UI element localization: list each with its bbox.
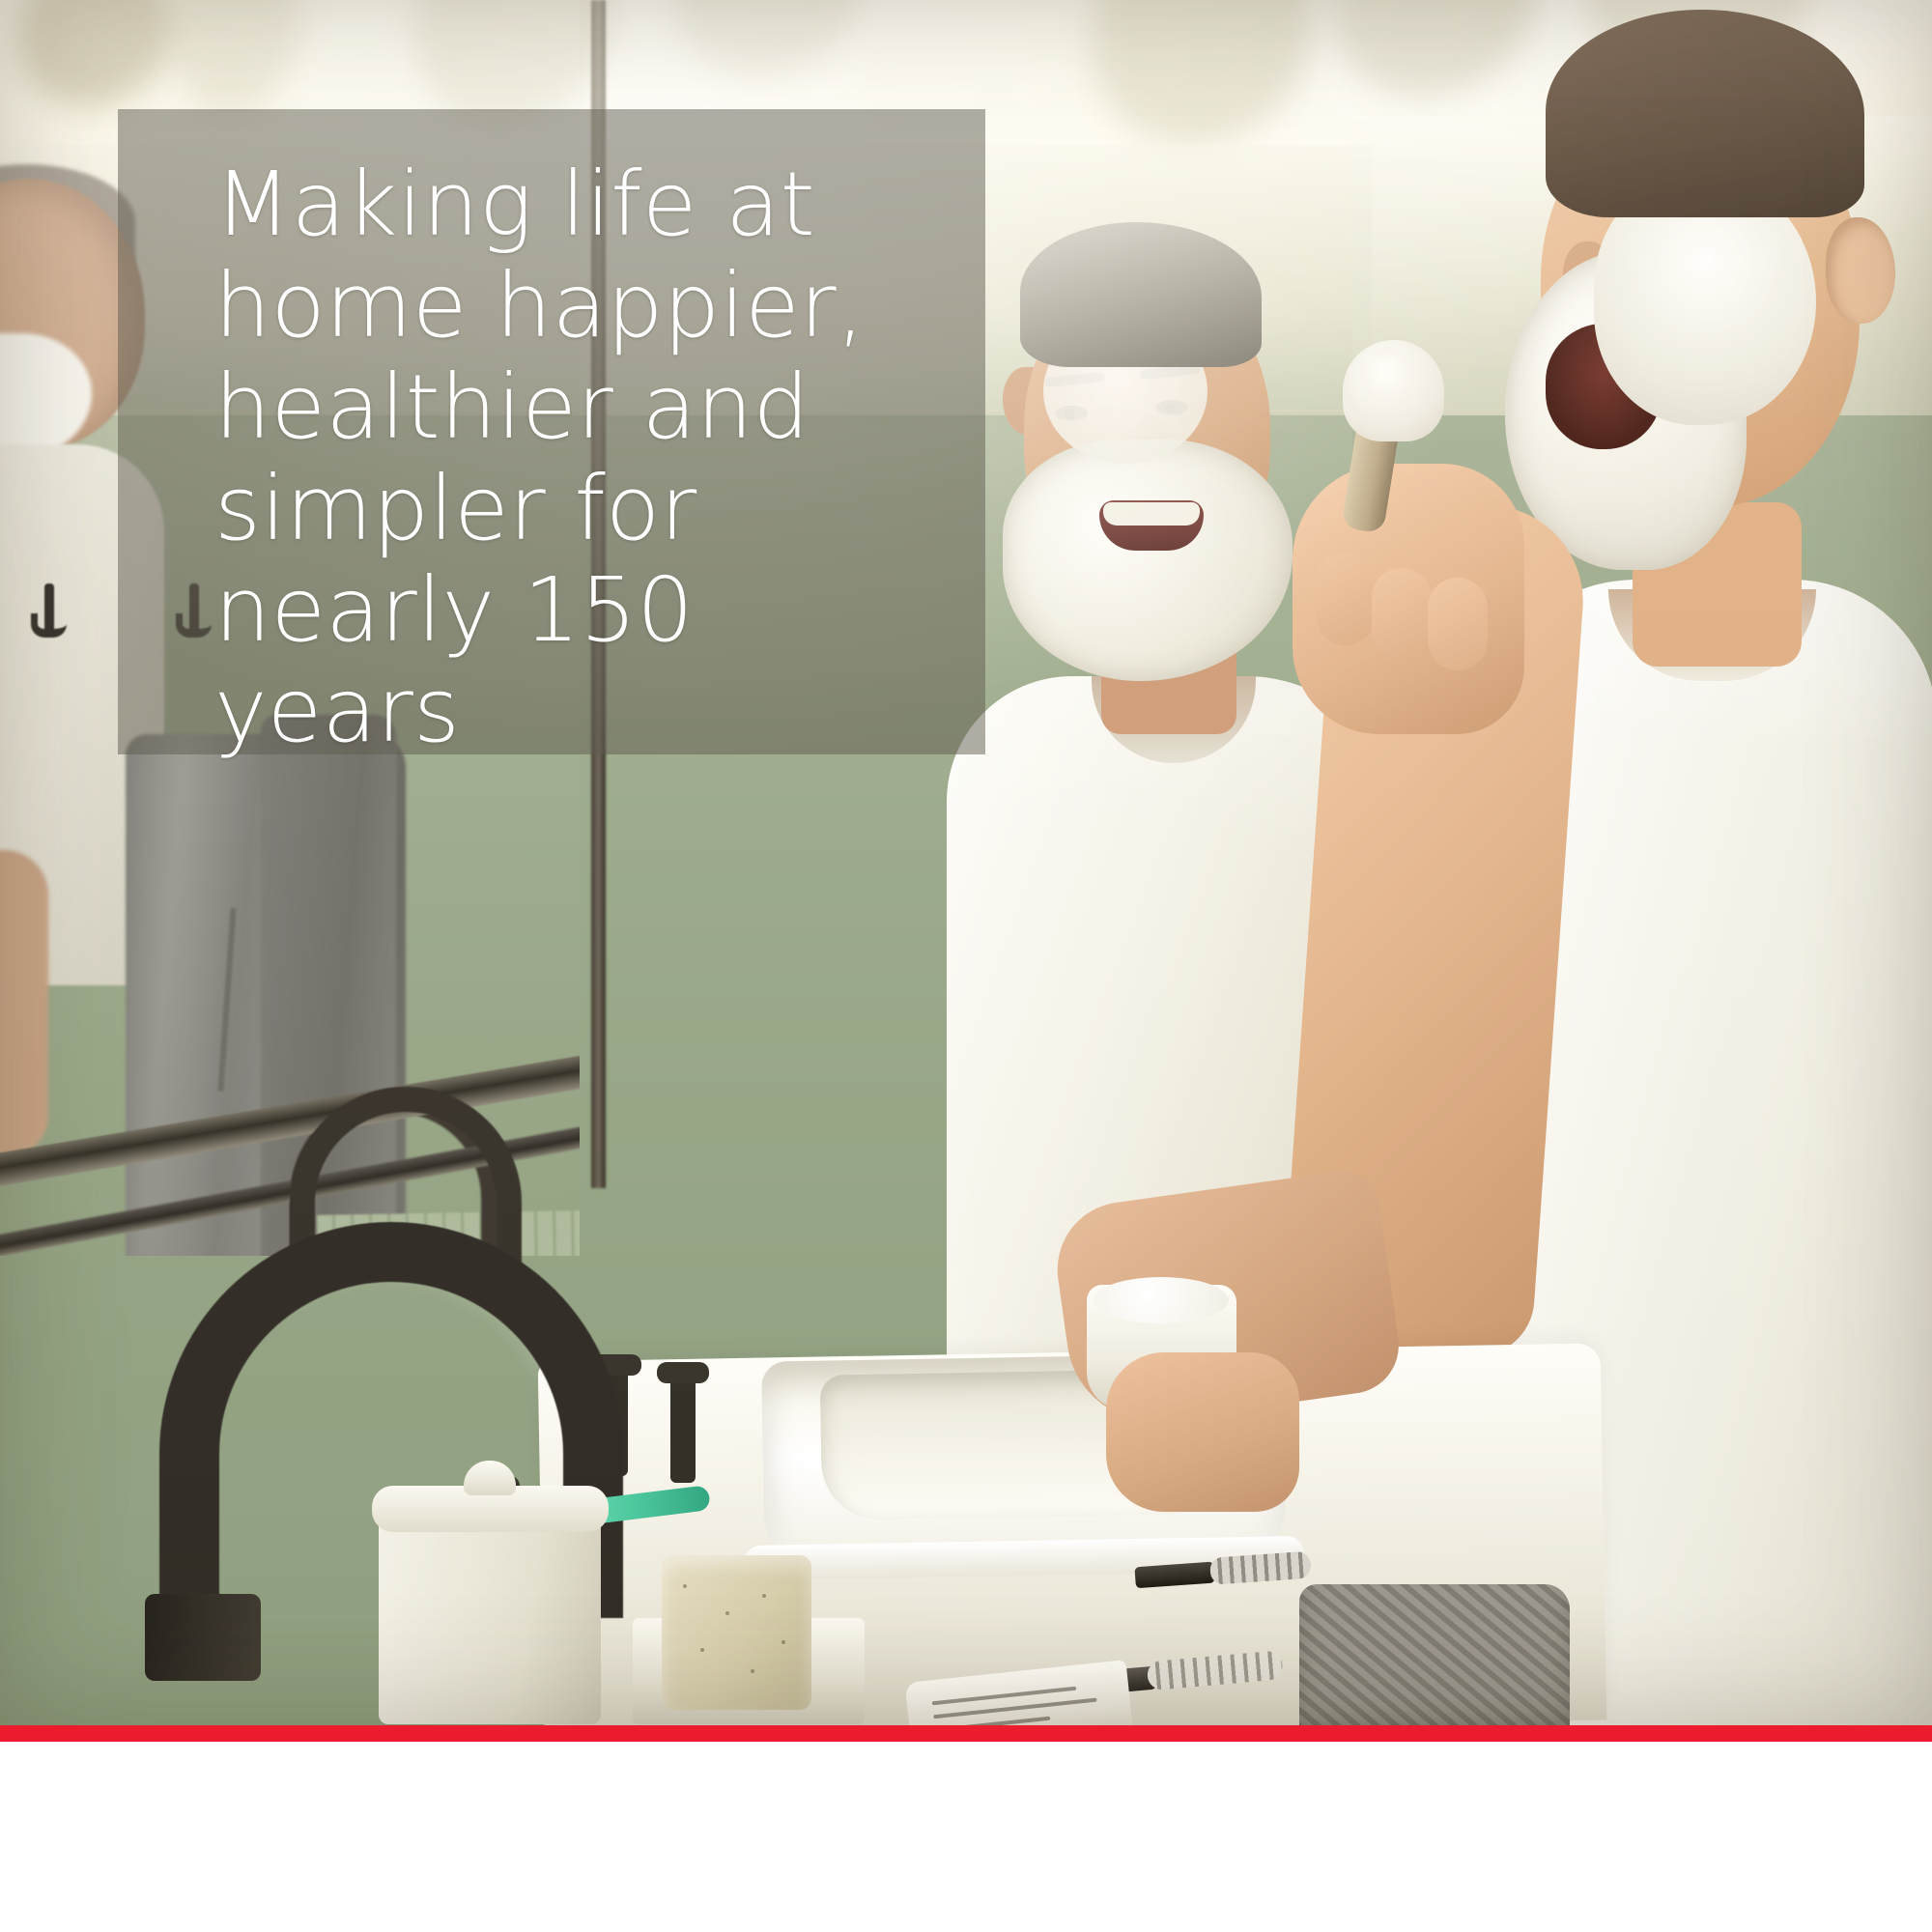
headline-line-3: healthier and bbox=[214, 357, 949, 459]
headline-line-1: Making life at bbox=[214, 155, 949, 256]
shaving-cup-foam bbox=[1094, 1277, 1229, 1323]
father-hair bbox=[1020, 222, 1262, 367]
razor-grip bbox=[1209, 1551, 1312, 1585]
son-ear bbox=[1826, 217, 1895, 324]
advertisement-creative: Making life at home happier, healthier a… bbox=[0, 0, 1932, 1932]
father-smiling-mouth bbox=[1099, 500, 1204, 551]
reflected-man-arm bbox=[0, 850, 48, 1159]
soap-fleck bbox=[762, 1594, 766, 1598]
headline-line-4: simpler for bbox=[214, 459, 949, 560]
headline-text: Making life at home happier, healthier a… bbox=[214, 155, 949, 762]
soap-fleck bbox=[725, 1611, 729, 1615]
soap-bar bbox=[662, 1555, 811, 1710]
hero-photograph: Making life at home happier, healthier a… bbox=[0, 0, 1932, 1725]
son-finger bbox=[1316, 553, 1376, 645]
folded-grey-towel bbox=[1299, 1584, 1570, 1725]
soap-fleck bbox=[781, 1640, 785, 1644]
wall-hook-icon bbox=[44, 583, 54, 634]
son-finger bbox=[1372, 568, 1432, 661]
razor-head bbox=[1134, 1562, 1214, 1589]
foreground-faucet-base bbox=[145, 1594, 261, 1681]
son-finger bbox=[1428, 578, 1488, 670]
brand-accent-bar bbox=[0, 1725, 1932, 1742]
tube-label-line bbox=[935, 1717, 1051, 1725]
son-hand bbox=[1293, 464, 1524, 734]
father-shaving-foam bbox=[1003, 440, 1293, 681]
logo-band: American Standard bbox=[0, 1742, 1932, 1932]
father-teeth bbox=[1103, 502, 1200, 526]
son-hair bbox=[1546, 10, 1864, 217]
father-hand bbox=[1106, 1352, 1299, 1512]
shaving-brush-bristles bbox=[1343, 340, 1444, 441]
ceramic-canister bbox=[379, 1512, 601, 1724]
soap-fleck bbox=[700, 1648, 704, 1652]
faucet-handle-post bbox=[670, 1377, 696, 1483]
soap-fleck bbox=[751, 1669, 754, 1673]
soap-fleck bbox=[683, 1584, 687, 1588]
headline-line-5: nearly 150 years bbox=[214, 560, 949, 763]
faucet-handle-cap bbox=[657, 1362, 709, 1383]
headline-line-2: home happier, bbox=[214, 256, 949, 357]
